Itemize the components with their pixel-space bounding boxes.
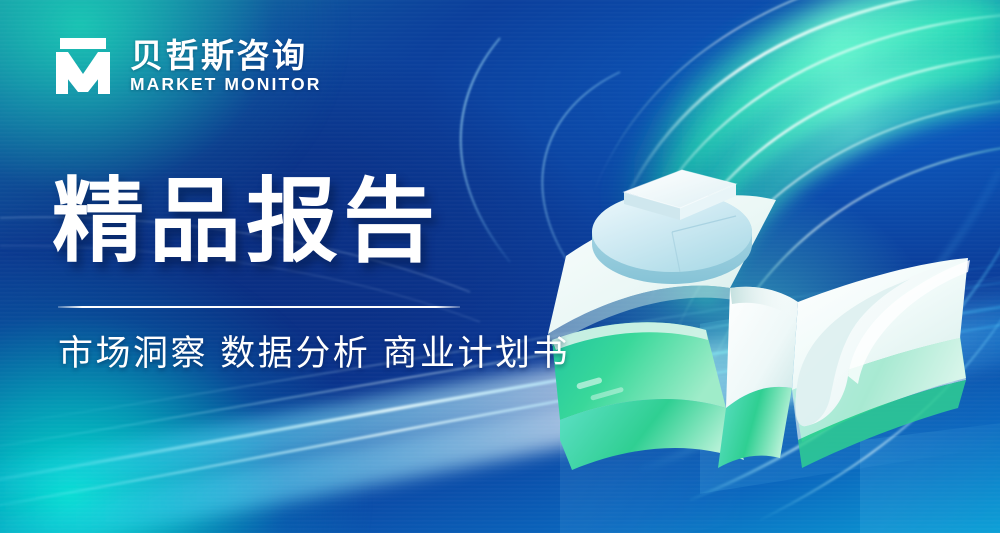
title-divider <box>58 306 460 308</box>
page-title: 精品报告 <box>52 176 440 270</box>
brand-logo[interactable]: 贝哲斯咨询 MARKET MONITOR <box>52 34 321 98</box>
brand-name-cn: 贝哲斯咨询 <box>130 38 321 74</box>
brand-name-en: MARKET MONITOR <box>130 75 321 94</box>
market-monitor-m-logo-icon <box>52 34 114 98</box>
page-subtitle: 市场洞察 数据分析 商业计划书 <box>58 332 570 376</box>
report-banner: 贝哲斯咨询 MARKET MONITOR 精品报告 市场洞察 数据分析 商业计划… <box>0 0 1000 533</box>
open-book-illustration <box>530 140 980 470</box>
brand-logo-text: 贝哲斯咨询 MARKET MONITOR <box>130 38 321 94</box>
